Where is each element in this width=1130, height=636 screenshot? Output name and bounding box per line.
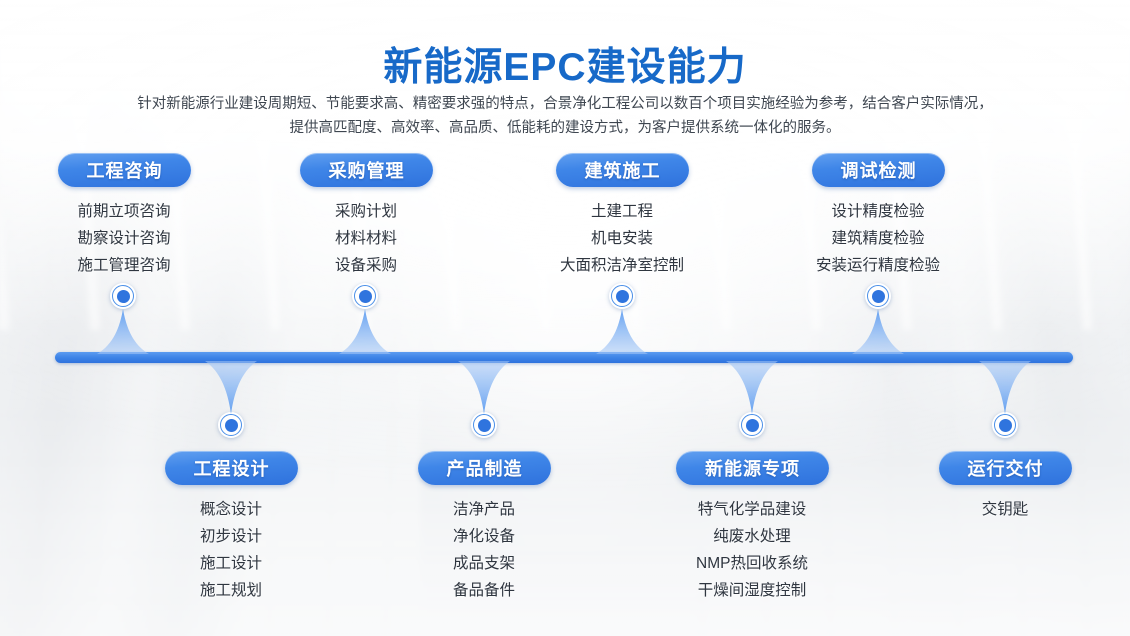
timeline-connector-产品制造 (458, 361, 510, 414)
list-item: 洁净产品 (384, 496, 584, 523)
list-item: 成品支架 (384, 550, 584, 577)
timeline-node-产品制造[interactable] (471, 412, 497, 438)
stage-pill-建筑施工[interactable]: 建筑施工 (556, 153, 689, 187)
infographic-canvas: 新能源EPC建设能力 针对新能源行业建设周期短、节能要求高、精密要求强的特点，合… (0, 0, 1130, 636)
list-item: 前期立项咨询 (24, 198, 224, 225)
timeline-node-建筑施工[interactable] (609, 283, 635, 309)
list-item: 干燥间湿度控制 (642, 577, 862, 604)
list-item: 勘察设计咨询 (24, 225, 224, 252)
timeline-connector-采购管理 (339, 309, 391, 354)
timeline-node-运行交付[interactable] (992, 412, 1018, 438)
timeline-connector-建筑施工 (596, 309, 648, 354)
list-item: 材料材料 (266, 225, 466, 252)
list-item: 特气化学品建设 (642, 496, 862, 523)
stage-pill-工程设计[interactable]: 工程设计 (165, 451, 298, 485)
timeline-bar (55, 352, 1073, 363)
stage-item-list-产品制造: 洁净产品净化设备成品支架备品备件 (384, 496, 584, 604)
list-item: 采购计划 (266, 198, 466, 225)
content-layer: 新能源EPC建设能力 针对新能源行业建设周期短、节能要求高、精密要求强的特点，合… (0, 0, 1130, 636)
list-item: 土建工程 (512, 198, 732, 225)
list-item: 备品备件 (384, 577, 584, 604)
stage-pill-产品制造[interactable]: 产品制造 (418, 451, 551, 485)
list-item: 施工管理咨询 (24, 252, 224, 279)
subtitle-line-1: 针对新能源行业建设周期短、节能要求高、精密要求强的特点，合景净化工程公司以数百个… (85, 92, 1045, 116)
stage-pill-运行交付[interactable]: 运行交付 (939, 451, 1072, 485)
list-item: 建筑精度检验 (768, 225, 988, 252)
list-item: 机电安装 (512, 225, 732, 252)
timeline-connector-运行交付 (979, 361, 1031, 414)
stage-item-list-建筑施工: 土建工程机电安装大面积洁净室控制 (512, 198, 732, 279)
stage-item-list-新能源专项: 特气化学品建设纯废水处理NMP热回收系统干燥间湿度控制 (642, 496, 862, 604)
page-subtitle: 针对新能源行业建设周期短、节能要求高、精密要求强的特点，合景净化工程公司以数百个… (85, 92, 1045, 140)
list-item: 交钥匙 (905, 496, 1105, 523)
timeline-node-新能源专项[interactable] (739, 412, 765, 438)
timeline-node-工程设计[interactable] (218, 412, 244, 438)
stage-item-list-工程咨询: 前期立项咨询勘察设计咨询施工管理咨询 (24, 198, 224, 279)
list-item: 安装运行精度检验 (768, 252, 988, 279)
stage-pill-采购管理[interactable]: 采购管理 (300, 153, 433, 187)
list-item: 施工设计 (131, 550, 331, 577)
list-item: 大面积洁净室控制 (512, 252, 732, 279)
list-item: 设计精度检验 (768, 198, 988, 225)
list-item: 施工规划 (131, 577, 331, 604)
stage-item-list-运行交付: 交钥匙 (905, 496, 1105, 523)
list-item: 净化设备 (384, 523, 584, 550)
page-title: 新能源EPC建设能力 (0, 36, 1130, 92)
stage-pill-新能源专项[interactable]: 新能源专项 (676, 451, 829, 485)
timeline-connector-调试检测 (852, 309, 904, 354)
timeline-node-工程咨询[interactable] (110, 283, 136, 309)
timeline-node-调试检测[interactable] (865, 283, 891, 309)
list-item: 设备采购 (266, 252, 466, 279)
timeline-connector-工程设计 (205, 361, 257, 414)
timeline-connector-新能源专项 (726, 361, 778, 414)
list-item: NMP热回收系统 (642, 550, 862, 577)
list-item: 初步设计 (131, 523, 331, 550)
subtitle-line-2: 提供高匹配度、高效率、高品质、低能耗的建设方式，为客户提供系统一体化的服务。 (85, 116, 1045, 140)
stage-item-list-采购管理: 采购计划材料材料设备采购 (266, 198, 466, 279)
stage-pill-工程咨询[interactable]: 工程咨询 (58, 153, 191, 187)
stage-item-list-调试检测: 设计精度检验建筑精度检验安装运行精度检验 (768, 198, 988, 279)
timeline-connector-工程咨询 (97, 309, 149, 354)
timeline-node-采购管理[interactable] (352, 283, 378, 309)
list-item: 概念设计 (131, 496, 331, 523)
list-item: 纯废水处理 (642, 523, 862, 550)
stage-item-list-工程设计: 概念设计初步设计施工设计施工规划 (131, 496, 331, 604)
stage-pill-调试检测[interactable]: 调试检测 (812, 153, 945, 187)
